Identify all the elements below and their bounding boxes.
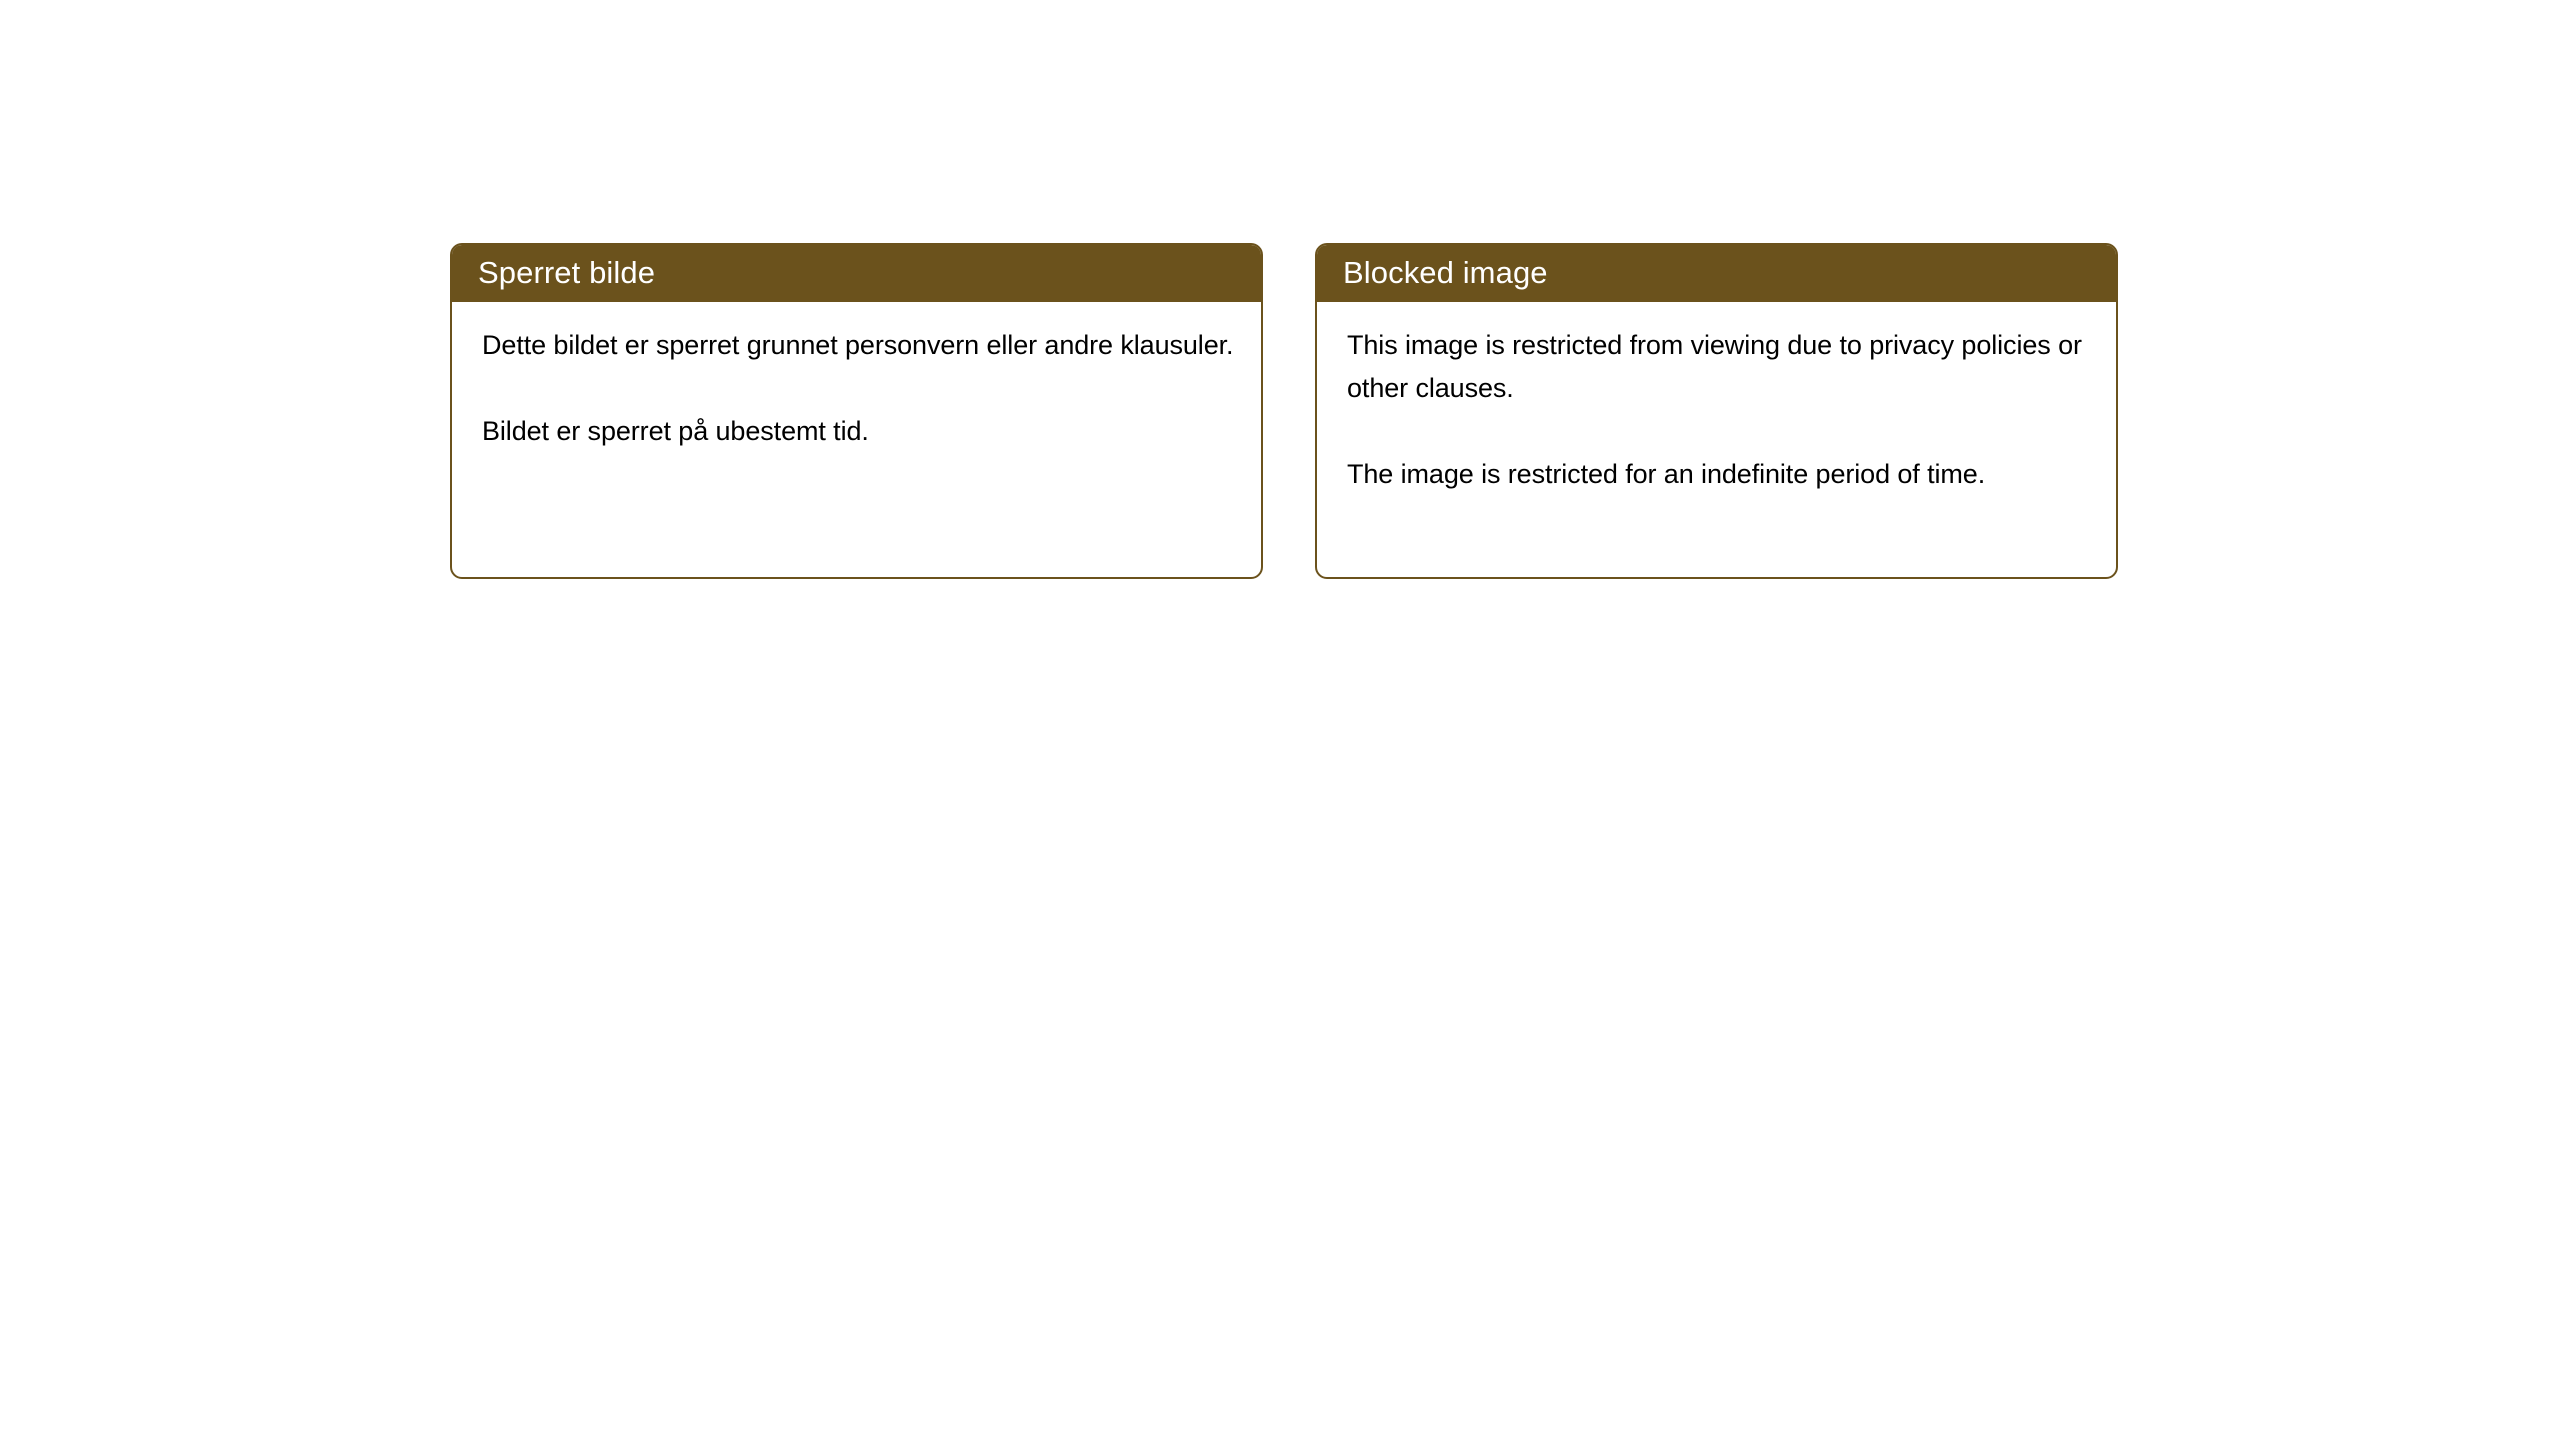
card-body-english: This image is restricted from viewing du… bbox=[1317, 302, 2116, 496]
card-header-english: Blocked image bbox=[1315, 243, 2118, 302]
card-paragraph-duration-english: The image is restricted for an indefinit… bbox=[1347, 453, 2092, 496]
card-header-norwegian: Sperret bilde bbox=[450, 243, 1263, 302]
card-paragraph-reason-norwegian: Dette bildet er sperret grunnet personve… bbox=[482, 324, 1237, 367]
blocked-image-notice-norwegian: Sperret bilde Dette bildet er sperret gr… bbox=[450, 243, 1263, 579]
card-body-norwegian: Dette bildet er sperret grunnet personve… bbox=[452, 302, 1261, 453]
card-paragraph-reason-english: This image is restricted from viewing du… bbox=[1347, 324, 2092, 410]
card-title-english: Blocked image bbox=[1343, 257, 1548, 288]
page-canvas: Sperret bilde Dette bildet er sperret gr… bbox=[0, 0, 2560, 1440]
card-title-norwegian: Sperret bilde bbox=[478, 257, 655, 288]
card-paragraph-duration-norwegian: Bildet er sperret på ubestemt tid. bbox=[482, 410, 1237, 453]
blocked-image-notice-english: Blocked image This image is restricted f… bbox=[1315, 243, 2118, 579]
